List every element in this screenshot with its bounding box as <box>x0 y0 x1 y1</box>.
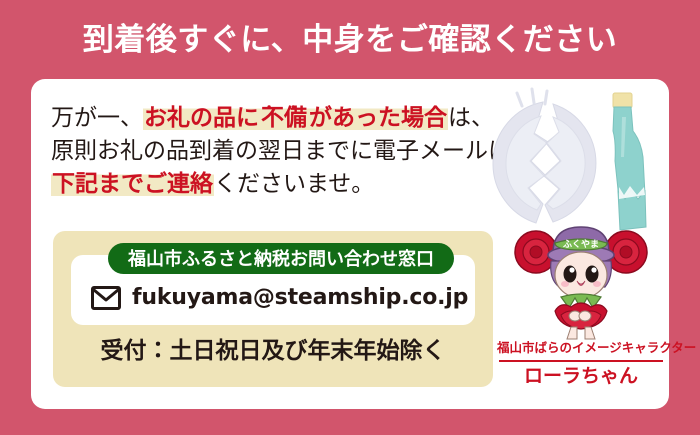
contact-email-row[interactable]: fukuyama@steamship.co.jp <box>91 286 468 310</box>
body-line3-highlight: 下記までご連絡 <box>51 170 214 196</box>
rola-chan-mascot-icon: ふくやま <box>509 219 654 341</box>
notice-body-line-3: 下記までご連絡くださいませ。 <box>51 167 451 200</box>
notice-body-line-2: 原則お礼の品到着の翌日までに電子メールにて <box>51 134 451 167</box>
reception-hours: 受付：土日祝日及び年末年始除く <box>53 339 493 362</box>
contact-panel: 福山市ふるさと納税お問い合わせ窓口 fukuyama@steamship.co.… <box>53 231 493 387</box>
mascot-name: ローラちゃん <box>497 366 665 389</box>
contact-window-label: 福山市ふるさと納税お問い合わせ窓口 <box>128 250 434 268</box>
damaged-goods-illustration <box>393 87 658 239</box>
poster-header: 到着後すぐに、中身をご確認ください <box>0 0 700 78</box>
broken-bottle-icon <box>613 93 646 230</box>
mascot-divider <box>499 360 663 362</box>
contact-email-address[interactable]: fukuyama@steamship.co.jp <box>132 287 468 309</box>
notice-poster: 到着後すぐに、中身をご確認ください 万が一、お礼の品に不備があった場合は、 原則… <box>0 0 700 435</box>
body-line1-pre: 万が一、 <box>51 104 143 130</box>
mascot-caption: 福山市ばらのイメージキャラクター <box>497 341 665 356</box>
mascot-block: ふくやま <box>497 219 665 394</box>
svg-text:ふくやま: ふくやま <box>563 239 599 249</box>
cracked-plate-icon <box>493 89 596 223</box>
notice-body-line-1: 万が一、お礼の品に不備があった場合は、 <box>51 101 451 134</box>
content-card: 万が一、お礼の品に不備があった場合は、 原則お礼の品到着の翌日までに電子メールに… <box>31 79 669 409</box>
envelope-icon <box>91 286 121 310</box>
notice-body: 万が一、お礼の品に不備があった場合は、 原則お礼の品到着の翌日までに電子メールに… <box>51 101 451 200</box>
body-line1-highlight-a: お礼の品に <box>143 104 260 130</box>
page-title: 到着後すぐに、中身をご確認ください <box>83 24 618 55</box>
body-line1-highlight-emphasis: 不備 <box>260 104 308 130</box>
body-line3-post: くださいませ。 <box>214 170 374 196</box>
contact-window-badge: 福山市ふるさと納税お問い合わせ窓口 <box>108 243 454 274</box>
